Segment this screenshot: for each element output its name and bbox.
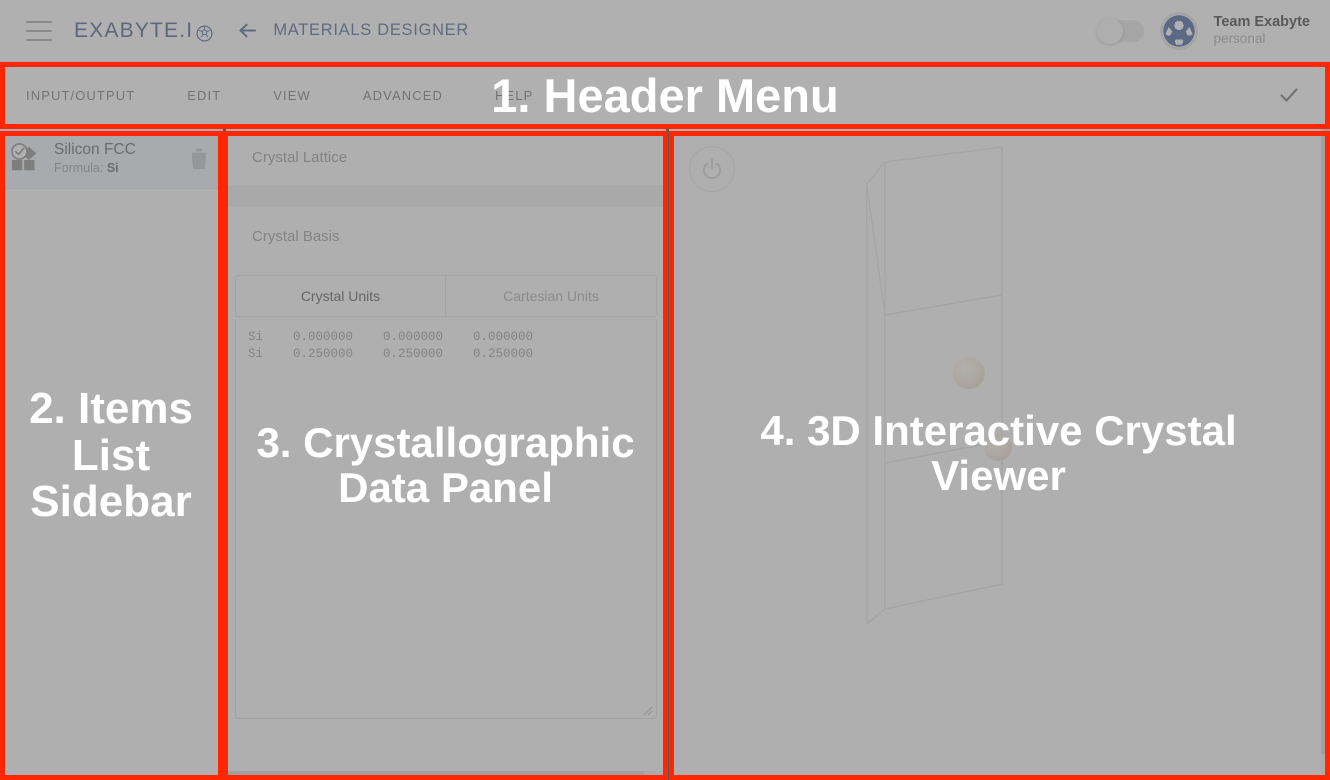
tab-cartesian-units[interactable]: Cartesian Units: [446, 276, 656, 316]
vertical-scrollbar[interactable]: [1321, 129, 1330, 780]
basis-textarea[interactable]: Si 0.000000 0.000000 0.000000 Si 0.25000…: [235, 319, 657, 719]
user-info[interactable]: Team Exabyte personal: [1214, 13, 1310, 48]
menu-item-edit[interactable]: EDIT: [161, 88, 247, 103]
toggle-knob: [1097, 18, 1123, 44]
theme-toggle-switch[interactable]: [1098, 20, 1144, 42]
list-item-formula: Formula: Si: [54, 160, 178, 176]
top-bar-right: Team Exabyte personal: [1098, 12, 1316, 50]
user-name: Team Exabyte: [1214, 13, 1310, 31]
crystal-cell-wireframe: [669, 129, 1330, 780]
accordion-title: Crystal Lattice: [252, 149, 624, 166]
avatar[interactable]: [1160, 12, 1198, 50]
list-item[interactable]: Silicon FCC Formula: Si: [0, 129, 222, 189]
page-title: MATERIALS DESIGNER: [273, 21, 469, 40]
fullerene-logo-icon: [196, 24, 213, 41]
horizontal-scrollbar[interactable]: [226, 771, 666, 780]
list-item-title: Silicon FCC: [54, 140, 178, 160]
trash-icon[interactable]: [188, 147, 210, 171]
back-arrow-icon[interactable]: [235, 19, 259, 43]
check-icon[interactable]: [1276, 82, 1302, 108]
menu-item-input-output[interactable]: INPUT/OUTPUT: [0, 88, 161, 103]
crystallographic-data-panel: Crystal Lattice Crystal Basis Crystal Un: [226, 129, 666, 780]
menu-item-advanced[interactable]: ADVANCED: [337, 88, 469, 103]
menu-item-view[interactable]: VIEW: [247, 88, 337, 103]
resize-grip-icon[interactable]: [641, 703, 653, 715]
power-icon[interactable]: [689, 146, 735, 192]
formula-label: Formula:: [54, 161, 103, 175]
brand-text: EXABYTE.I: [74, 19, 193, 43]
user-account: personal: [1214, 31, 1310, 48]
items-list-sidebar: Silicon FCC Formula: Si: [0, 129, 223, 780]
material-blocks-icon: [10, 143, 44, 175]
tab-crystal-units[interactable]: Crystal Units: [236, 276, 446, 316]
accordion-crystal-lattice[interactable]: Crystal Lattice: [226, 129, 666, 185]
fullerene-avatar-icon: [1161, 13, 1197, 49]
hamburger-menu-icon[interactable]: [26, 21, 52, 41]
basis-row: Si 0.250000 0.250000 0.250000: [248, 346, 650, 363]
formula-value: Si: [107, 161, 119, 175]
unit-tabs: Crystal Units Cartesian Units: [235, 275, 657, 317]
materials-designer-app: EXABYTE.I MATERIALS DESIGNER: [0, 0, 1330, 780]
accordion-crystal-basis[interactable]: Crystal Basis: [226, 207, 666, 265]
menu-bar: INPUT/OUTPUT EDIT VIEW ADVANCED HELP: [0, 62, 1330, 129]
main-area: Silicon FCC Formula: Si Crystal La: [0, 129, 1330, 780]
crystal-viewer-3d[interactable]: [669, 129, 1330, 780]
brand-logo[interactable]: EXABYTE.I: [74, 19, 213, 43]
accordion-gap: [226, 185, 666, 207]
list-item-text: Silicon FCC Formula: Si: [54, 140, 178, 176]
menu-item-help[interactable]: HELP: [469, 88, 559, 103]
accordion-title: Crystal Basis: [252, 228, 624, 245]
top-bar: EXABYTE.I MATERIALS DESIGNER: [0, 0, 1330, 62]
chevron-up-icon[interactable]: [624, 226, 644, 246]
basis-row: Si 0.000000 0.000000 0.000000: [248, 329, 650, 346]
chevron-down-icon[interactable]: [624, 147, 644, 167]
